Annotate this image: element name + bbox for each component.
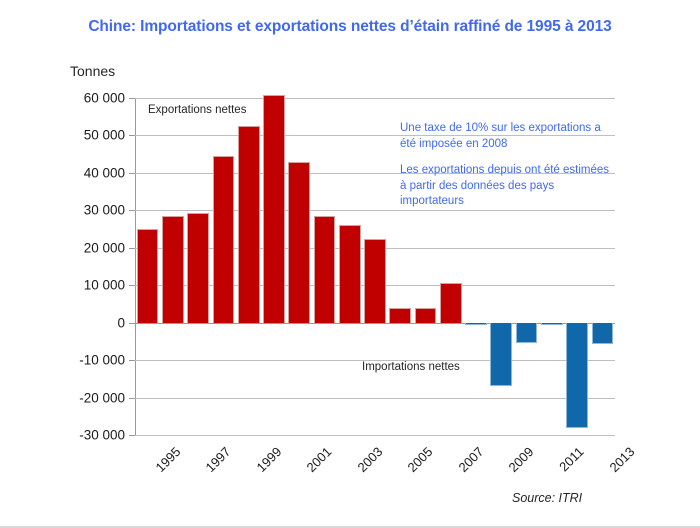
- gridline: [135, 435, 615, 436]
- imports-series-label: Importations nettes: [362, 361, 460, 373]
- y-axis-tick-label: -10 000: [55, 353, 125, 368]
- x-axis-tick-label-2005: 2005: [405, 444, 436, 475]
- exports-series-label: Exportations nettes: [148, 104, 246, 116]
- bar-2011: [541, 323, 563, 325]
- y-axis-tick-label: 50 000: [55, 128, 125, 143]
- y-axis-tick-label: 10 000: [55, 278, 125, 293]
- y-axis-tick-label: 0: [55, 315, 125, 330]
- x-axis-tick-label-1995: 1995: [152, 444, 183, 475]
- bar-1995: [137, 229, 159, 323]
- bar-2006: [415, 308, 437, 323]
- bar-1997: [187, 213, 209, 323]
- x-axis-tick-label-2007: 2007: [455, 444, 486, 475]
- y-axis-tick-labels: 60 00050 00040 00030 00020 00010 0000-10…: [50, 0, 125, 528]
- bar-2005: [389, 308, 411, 322]
- x-axis-tick-label-2003: 2003: [354, 444, 385, 475]
- x-axis-tick-label-2013: 2013: [607, 444, 638, 475]
- x-axis-tick-labels: 1995199719992001200320052007200920112013: [135, 440, 615, 490]
- x-axis-tick-label-1997: 1997: [203, 444, 234, 475]
- y-axis-tick-label: 20 000: [55, 240, 125, 255]
- y-axis-tick-mark: [129, 98, 135, 99]
- x-axis-tick-label-1999: 1999: [253, 444, 284, 475]
- y-axis-tick-mark: [129, 248, 135, 249]
- y-axis-tick-label: 40 000: [55, 165, 125, 180]
- gridline: [135, 210, 615, 211]
- bar-2000: [263, 95, 285, 323]
- bar-1999: [238, 126, 260, 323]
- y-axis-tick-label: 30 000: [55, 203, 125, 218]
- bar-1996: [162, 216, 184, 322]
- bar-2013: [592, 323, 614, 344]
- annotation-export-tax: Une taxe de 10% sur les exportations a é…: [400, 121, 615, 152]
- bar-2002: [314, 216, 336, 323]
- y-axis-tick-label: -30 000: [55, 428, 125, 443]
- bar-2001: [288, 162, 310, 322]
- bar-2010: [516, 323, 538, 344]
- gridline: [135, 98, 615, 99]
- y-axis-tick-mark: [129, 285, 135, 286]
- bar-2004: [364, 239, 386, 323]
- annotation-estimates: Les exportations depuis ont été estimées…: [400, 163, 615, 210]
- y-axis-tick-mark: [129, 398, 135, 399]
- x-axis-tick-label-2009: 2009: [506, 444, 537, 475]
- y-axis-tick-mark: [129, 360, 135, 361]
- gridline: [135, 398, 615, 399]
- y-axis-tick-mark: [129, 210, 135, 211]
- bar-1998: [213, 156, 235, 322]
- y-axis-tick-label: -20 000: [55, 390, 125, 405]
- y-axis-tick-label: 60 000: [55, 91, 125, 106]
- bar-2008: [465, 323, 487, 325]
- y-axis-tick-mark: [129, 323, 135, 324]
- y-axis-tick-mark: [129, 173, 135, 174]
- bar-2012: [566, 323, 588, 428]
- bar-2003: [339, 225, 361, 323]
- y-axis-tick-mark: [129, 135, 135, 136]
- y-axis-tick-mark: [129, 435, 135, 436]
- x-axis-tick-label-2001: 2001: [304, 444, 335, 475]
- bar-2007: [440, 283, 462, 322]
- bar-2009: [490, 323, 512, 387]
- chart-page: Chine: Importations et exportations nett…: [0, 0, 700, 528]
- source-note: Source: ITRI: [512, 491, 582, 505]
- x-axis-tick-label-2011: 2011: [556, 444, 586, 474]
